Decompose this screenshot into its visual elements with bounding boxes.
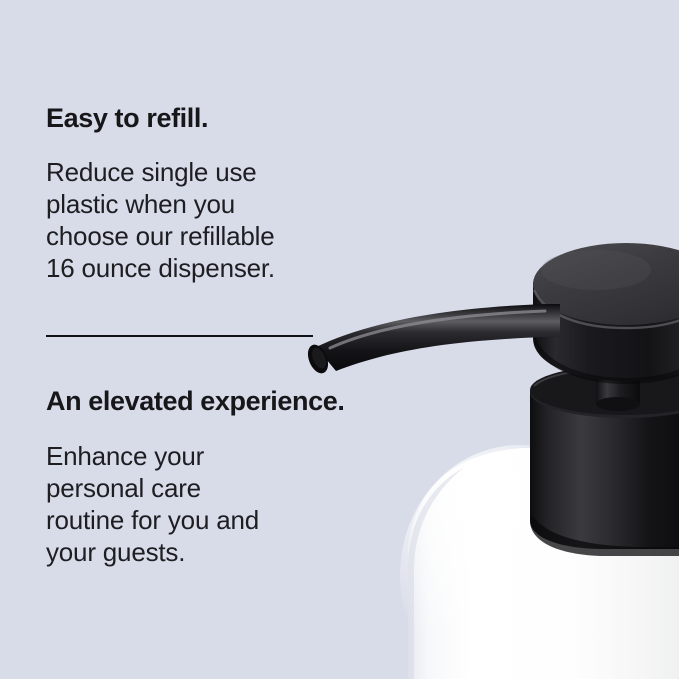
bottle-collar xyxy=(530,365,679,556)
pump-head xyxy=(533,243,679,384)
pump-stem xyxy=(596,353,640,411)
section-body: Reduce single use plastic when you choos… xyxy=(46,156,275,284)
product-feature-panel: Easy to refill. Reduce single use plasti… xyxy=(0,0,679,679)
pump-spout xyxy=(304,304,560,376)
bottle-body xyxy=(400,445,679,679)
section-body: Enhance your personal care routine for y… xyxy=(46,440,344,568)
section-heading: Easy to refill. xyxy=(46,104,275,132)
soap-dispenser-illustration xyxy=(0,0,679,679)
feature-section-refill: Easy to refill. Reduce single use plasti… xyxy=(46,104,275,284)
section-divider xyxy=(46,335,313,337)
feature-section-experience: An elevated experience. Enhance your per… xyxy=(46,387,344,568)
section-heading: An elevated experience. xyxy=(46,387,344,415)
